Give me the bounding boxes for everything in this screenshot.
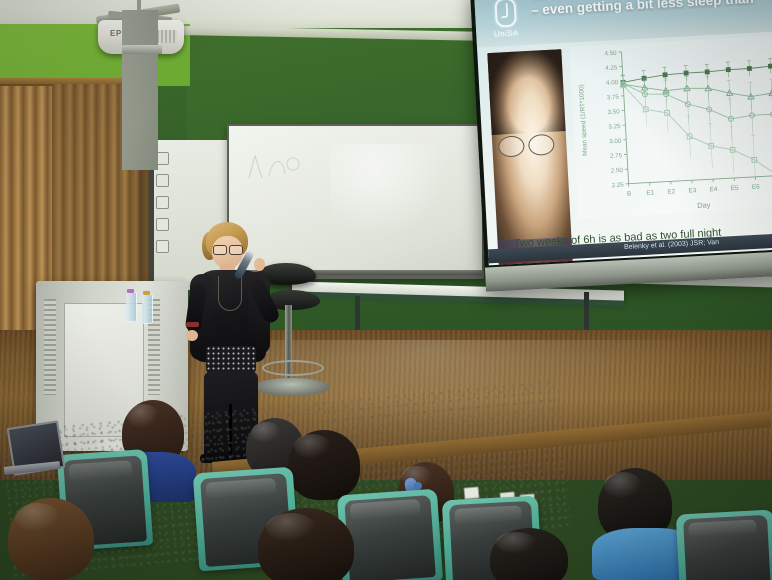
svg-text:E6: E6 (752, 184, 761, 191)
svg-text:2.50: 2.50 (611, 167, 624, 175)
unisa-mark-icon (494, 0, 517, 28)
svg-text:E5: E5 (731, 185, 740, 192)
portrait-glasses-icon (498, 133, 561, 158)
audience-seat[interactable] (337, 489, 443, 580)
svg-text:3.25: 3.25 (608, 123, 621, 131)
svg-text:4.50: 4.50 (604, 50, 617, 58)
svg-text:E1: E1 (646, 189, 655, 196)
svg-text:4.00: 4.00 (606, 79, 619, 87)
audience-seat[interactable] (676, 509, 772, 580)
presenter-right-hand (254, 258, 265, 271)
wall-outlet (464, 486, 480, 499)
bottle-cap (143, 291, 150, 295)
svg-text:E2: E2 (667, 188, 676, 195)
unisa-logo: UniSA (486, 0, 524, 43)
presenter-wristband (186, 322, 199, 327)
svg-text:Mean speed (1/RT*1000): Mean speed (1/RT*1000) (578, 84, 589, 156)
presenter-left-hand (186, 330, 198, 341)
svg-text:3.75: 3.75 (607, 94, 620, 102)
sleep-restriction-line-chart: 2.252.502.753.003.253.503.754.004.254.50… (569, 36, 772, 219)
svg-text:2.25: 2.25 (611, 182, 624, 190)
slide-portrait-photo (487, 49, 572, 265)
audience-head (8, 498, 94, 580)
presenter-glasses-icon (212, 245, 243, 254)
svg-text:E3: E3 (688, 187, 697, 194)
unisa-logo-text: UniSA (488, 28, 524, 39)
lectern-side-cabinet (122, 10, 158, 170)
whiteboard-marker-scribble (243, 138, 303, 190)
water-bottle (126, 292, 137, 322)
svg-text:B: B (627, 191, 632, 198)
audience-head (490, 528, 568, 580)
projector-vent (157, 30, 177, 43)
panel-button-icon[interactable] (156, 196, 169, 209)
svg-text:3.50: 3.50 (607, 108, 620, 116)
panel-button-icon[interactable] (156, 240, 169, 253)
water-bottle (142, 294, 153, 324)
chart-svg: 2.252.502.753.003.253.503.754.004.254.50… (569, 36, 772, 219)
whiteboard-glare (330, 144, 446, 236)
lectern-shelf (122, 45, 162, 54)
panel-button-icon[interactable] (156, 174, 169, 187)
lecture-hall-photo: EPSON (0, 0, 772, 580)
lectern-vent-left (44, 299, 56, 395)
panel-button-icon[interactable] (156, 218, 169, 231)
presentation-slide: UniSA Impa... – even getting a bit less … (474, 0, 772, 265)
bottle-cap (127, 289, 134, 293)
audience-head (288, 430, 360, 500)
svg-text:3.00: 3.00 (609, 138, 622, 146)
audience-head (258, 508, 354, 580)
svg-text:4.25: 4.25 (605, 64, 618, 72)
slide-citation-text: Belenky et al. (2003) JSR; Van (624, 239, 719, 251)
svg-text:Day: Day (697, 200, 711, 210)
svg-text:2.75: 2.75 (610, 152, 623, 160)
portrait-hair (487, 49, 572, 135)
projection-screen: UniSA Impa... – even getting a bit less … (470, 0, 772, 292)
svg-text:E4: E4 (710, 186, 719, 193)
presenter-necklace (218, 276, 242, 311)
